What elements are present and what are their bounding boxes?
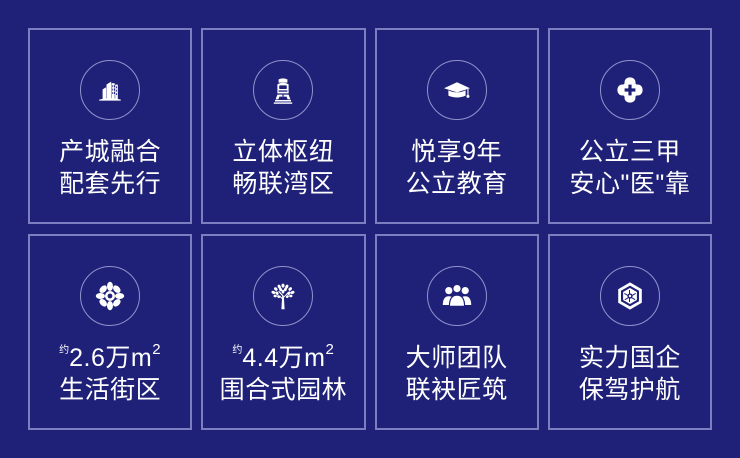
building-skyline-icon <box>80 60 140 120</box>
hexagon-emblem-icon <box>600 266 660 326</box>
feature-card-text: 约2.6万m2 生活街区 <box>59 342 161 406</box>
area-value: 2.6 <box>69 344 105 372</box>
feature-card-line-1: 实力国企 <box>579 342 681 374</box>
feature-card-text: 公立三甲 安心"医"靠 <box>570 136 691 200</box>
high-speed-train-icon <box>253 60 313 120</box>
tree-icon <box>253 266 313 326</box>
feature-card-text: 立体枢纽 畅联湾区 <box>232 136 334 200</box>
feature-card-line-1: 悦享9年 <box>406 136 508 168</box>
area-unit-superscript: 2 <box>326 341 335 358</box>
feature-card-line-2: 联袂匠筑 <box>406 374 508 406</box>
feature-card-line-1: 约2.6万m2 <box>59 342 161 374</box>
feature-card-text: 实力国企 保驾护航 <box>579 342 681 406</box>
feature-card-line-2: 生活街区 <box>59 374 161 406</box>
area-unit-wan: 万 <box>279 344 305 372</box>
flower-burst-icon <box>80 266 140 326</box>
area-unit-wan: 万 <box>105 344 131 372</box>
area-unit-m: m <box>304 344 325 372</box>
feature-card-line-2: 配套先行 <box>59 168 161 200</box>
area-unit-m: m <box>131 344 152 372</box>
feature-card-text: 产城融合 配套先行 <box>59 136 161 200</box>
feature-card-industry-city-integration[interactable]: 产城融合 配套先行 <box>28 28 192 224</box>
feature-card-line-2: 保驾护航 <box>579 374 681 406</box>
people-group-icon <box>427 266 487 326</box>
feature-card-line-2: 畅联湾区 <box>232 168 334 200</box>
feature-card-line-2: 公立教育 <box>406 168 508 200</box>
feature-card-text: 约4.4万m2 围合式园林 <box>220 342 348 406</box>
feature-card-line-1: 约4.4万m2 <box>220 342 348 374</box>
feature-card-state-owned-enterprise[interactable]: 实力国企 保驾护航 <box>548 234 712 430</box>
area-value: 4.4 <box>242 344 278 372</box>
feature-card-living-street-area[interactable]: 约2.6万m2 生活街区 <box>28 234 192 430</box>
approx-mark: 约 <box>59 345 69 356</box>
feature-card-enclosed-garden[interactable]: 约4.4万m2 围合式园林 <box>201 234 365 430</box>
area-unit-superscript: 2 <box>152 341 161 358</box>
feature-card-text: 大师团队 联袂匠筑 <box>406 342 508 406</box>
feature-card-transport-hub[interactable]: 立体枢纽 畅联湾区 <box>201 28 365 224</box>
feature-card-line-1: 产城融合 <box>59 136 161 168</box>
graduation-cap-icon <box>427 60 487 120</box>
feature-card-line-2: 围合式园林 <box>220 374 348 406</box>
feature-card-line-2: 安心"医"靠 <box>570 168 691 200</box>
medical-cross-clover-icon <box>600 60 660 120</box>
feature-card-public-education[interactable]: 悦享9年 公立教育 <box>375 28 539 224</box>
feature-card-text: 悦享9年 公立教育 <box>406 136 508 200</box>
feature-card-master-design-team[interactable]: 大师团队 联袂匠筑 <box>375 234 539 430</box>
feature-grid: 产城融合 配套先行 立体枢纽 <box>0 0 740 458</box>
feature-card-line-1: 大师团队 <box>406 342 508 374</box>
feature-card-line-1: 立体枢纽 <box>232 136 334 168</box>
feature-card-line-1: 公立三甲 <box>570 136 691 168</box>
feature-card-public-hospital[interactable]: 公立三甲 安心"医"靠 <box>548 28 712 224</box>
approx-mark: 约 <box>232 345 242 356</box>
